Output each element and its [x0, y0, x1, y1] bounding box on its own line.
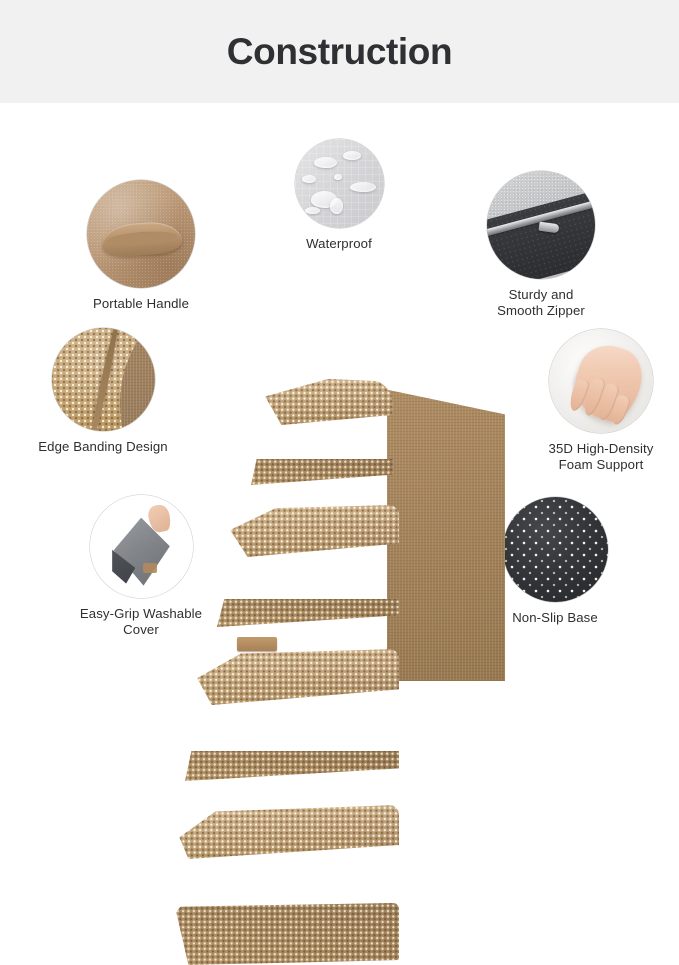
product-step-3-riser	[217, 599, 399, 627]
product-step-4-tread	[257, 379, 393, 425]
feature-portable-handle: Portable Handle	[68, 180, 214, 312]
feature-label-waterproof: Waterproof	[266, 236, 412, 252]
product-step-2-riser	[185, 751, 399, 781]
header-band: Construction	[0, 0, 679, 103]
hand-pressing-foam-icon	[549, 329, 653, 433]
edge-seam-icon	[52, 328, 155, 431]
product-brand-tag	[237, 637, 277, 651]
page-title: Construction	[227, 31, 452, 73]
product-step-1-tread	[175, 805, 399, 859]
product-step-2-tread	[191, 649, 399, 705]
feature-edge-banding-design: Edge Banding Design	[30, 328, 176, 455]
feature-waterproof: Waterproof	[266, 139, 412, 252]
infographic-canvas: Portable Handle Waterproof	[0, 103, 679, 627]
product-step-4-riser	[251, 459, 393, 485]
product-step-3-tread	[223, 505, 399, 557]
product-step-1-front	[175, 903, 399, 965]
feature-foam-support: 35D High-Density Foam Support	[528, 329, 674, 472]
feature-sturdy-smooth-zipper: Sturdy and Smooth Zipper	[468, 171, 614, 318]
product-side-panel	[387, 371, 505, 681]
feature-label-foam-support: 35D High-Density Foam Support	[528, 441, 674, 472]
feature-label-edge-banding-design: Edge Banding Design	[30, 439, 176, 455]
product-image-pet-stairs	[175, 371, 505, 681]
feature-label-portable-handle: Portable Handle	[68, 296, 214, 312]
water-droplets-icon	[295, 139, 384, 228]
feature-label-sturdy-smooth-zipper: Sturdy and Smooth Zipper	[468, 287, 614, 318]
zipper-icon	[487, 171, 595, 279]
fabric-handle-icon	[87, 180, 195, 288]
dotted-grip-base-icon	[503, 497, 608, 602]
